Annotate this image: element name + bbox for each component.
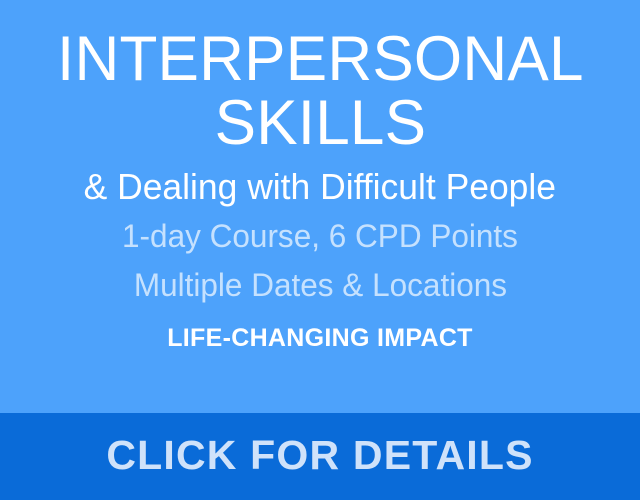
promo-content: INTERPERSONAL SKILLS & Dealing with Diff…: [0, 0, 640, 413]
detail-line-course-info: 1-day Course, 6 CPD Points: [122, 220, 518, 254]
advertisement-banner[interactable]: INTERPERSONAL SKILLS & Dealing with Diff…: [0, 0, 640, 500]
cta-bar[interactable]: CLICK FOR DETAILS: [0, 413, 640, 500]
headline-line-1: INTERPERSONAL: [57, 28, 584, 90]
impact-statement: LIFE-CHANGING IMPACT: [167, 325, 473, 351]
subheading: & Dealing with Difficult People: [84, 168, 556, 206]
detail-line-dates-locations: Multiple Dates & Locations: [133, 269, 506, 303]
headline-line-2: SKILLS: [214, 92, 426, 154]
cta-label: CLICK FOR DETAILS: [106, 435, 533, 476]
